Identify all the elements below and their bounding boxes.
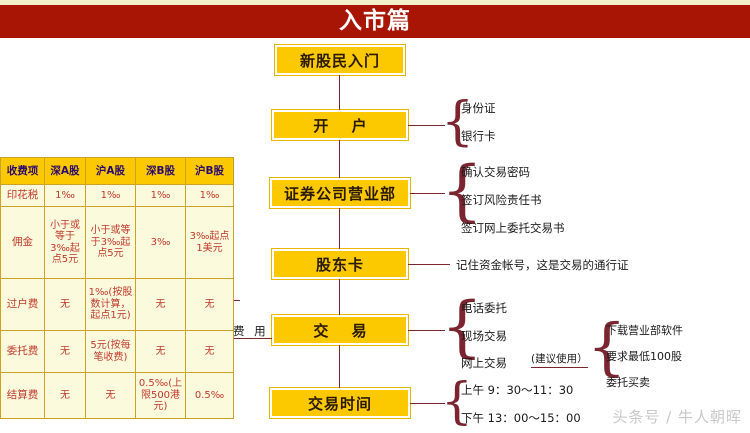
table-header-cell-0: 收费项 bbox=[1, 158, 45, 185]
table-row: 佣金 小于或等于3‰起点5元 小于或等于3‰起点5元 3‰ 3‰起点1美元 bbox=[1, 207, 234, 279]
connector-tradingtime-branchline bbox=[410, 403, 445, 404]
connector-trade-to-time bbox=[339, 345, 340, 388]
anno-shareholder-card: 记住资金帐号，这是交易的通行证 bbox=[456, 257, 629, 273]
table-row: 结算费 无 无 0.5‰(上限500港元) 0.5‰ bbox=[1, 373, 234, 419]
table-header-cell-2: 沪A股 bbox=[86, 158, 136, 185]
table-header-row: 收费项 深A股 沪A股 深B股 沪B股 bbox=[1, 158, 234, 185]
page-title: 入市篇 bbox=[0, 5, 750, 38]
fee-table: 收费项 深A股 沪A股 深B股 沪B股 印花税 1‰ 1‰ 1‰ 1‰ 佣金 小… bbox=[0, 157, 234, 419]
watermark: 头条号 / 牛人朝晖 bbox=[612, 406, 742, 427]
table-row-name-3: 委托费 bbox=[1, 331, 45, 373]
flow-box-securities-branch[interactable]: 证券公司营业部 bbox=[270, 178, 410, 208]
table-cell-3-1: 5元(按每笔收费) bbox=[86, 331, 136, 373]
table-cell-2-0: 无 bbox=[45, 279, 86, 331]
table-header-cell-3: 深B股 bbox=[136, 158, 186, 185]
connector-entry-to-open bbox=[339, 75, 340, 110]
fee-label: 费 用 bbox=[233, 323, 269, 339]
table-cell-0-2: 1‰ bbox=[136, 185, 186, 207]
anno-securities-0: 确认交易密码 bbox=[461, 164, 530, 180]
table-cell-3-0: 无 bbox=[45, 331, 86, 373]
anno-securities-2: 签订网上委托交易书 bbox=[461, 220, 565, 236]
table-cell-3-2: 无 bbox=[136, 331, 186, 373]
connector-fee-to-trade bbox=[228, 338, 272, 339]
anno-open-account-1: 银行卡 bbox=[461, 128, 496, 144]
anno-online-note: (建议使用） bbox=[531, 351, 588, 368]
flow-box-trade[interactable]: 交 易 bbox=[272, 315, 408, 345]
flow-box-entry[interactable]: 新股民入门 bbox=[275, 45, 405, 75]
table-cell-2-1: 1‰(按股数计算，起点1元) bbox=[86, 279, 136, 331]
table-row-name-0: 印花税 bbox=[1, 185, 45, 207]
table-cell-4-3: 0.5‰ bbox=[186, 373, 234, 419]
table-cell-2-2: 无 bbox=[136, 279, 186, 331]
anno-securities-1: 签订风险责任书 bbox=[461, 192, 542, 208]
table-header-cell-4: 沪B股 bbox=[186, 158, 234, 185]
table-row-name-4: 结算费 bbox=[1, 373, 45, 419]
connector-card-to-trade bbox=[339, 279, 340, 315]
table-cell-0-3: 1‰ bbox=[186, 185, 234, 207]
anno-online-sub-0: 下载营业部软件 bbox=[606, 322, 683, 338]
flow-box-trading-time[interactable]: 交易时间 bbox=[270, 388, 410, 418]
table-cell-1-1: 小于或等于3‰起点5元 bbox=[86, 207, 136, 279]
anno-trade-method-1: 现场交易 bbox=[461, 328, 507, 344]
header-banner: 入市篇 bbox=[0, 5, 750, 38]
table-cell-1-3: 3‰起点1美元 bbox=[186, 207, 234, 279]
table-row-name-1: 佣金 bbox=[1, 207, 45, 279]
table-row: 过户费 无 1‰(按股数计算，起点1元) 无 无 bbox=[1, 279, 234, 331]
connector-open-branchline bbox=[408, 125, 445, 126]
anno-trading-hours-1: 下午 13：00～15：00 bbox=[461, 410, 581, 426]
table-cell-4-2: 0.5‰(上限500港元) bbox=[136, 373, 186, 419]
table-row-name-2: 过户费 bbox=[1, 279, 45, 331]
anno-trade-method-0: 电话委托 bbox=[461, 300, 507, 316]
flow-box-shareholder-card[interactable]: 股东卡 bbox=[272, 249, 408, 279]
table-cell-3-3: 无 bbox=[186, 331, 234, 373]
connector-open-to-branch bbox=[339, 140, 340, 178]
table-cell-1-0: 小于或等于3‰起点5元 bbox=[45, 207, 86, 279]
table-cell-2-3: 无 bbox=[186, 279, 234, 331]
table-cell-1-2: 3‰ bbox=[136, 207, 186, 279]
table-row: 委托费 无 5元(按每笔收费) 无 无 bbox=[1, 331, 234, 373]
anno-online-sub-2: 委托买卖 bbox=[606, 374, 650, 390]
table-cell-0-0: 1‰ bbox=[45, 185, 86, 207]
table-cell-4-0: 无 bbox=[45, 373, 86, 419]
anno-open-account-0: 身份证 bbox=[461, 100, 496, 116]
table-cell-0-1: 1‰ bbox=[86, 185, 136, 207]
poster-canvas: 入市篇 新股民入门 开 户 证券公司营业部 股东卡 交 易 交易时间 费 用 {… bbox=[0, 0, 750, 433]
connector-branch-to-card bbox=[339, 208, 340, 249]
flow-box-open-account[interactable]: 开 户 bbox=[272, 110, 408, 140]
connector-card-branchline bbox=[408, 264, 450, 265]
connector-securities-branchline bbox=[410, 193, 445, 194]
anno-online-sub-1: 要求最低100股 bbox=[606, 348, 682, 364]
table-cell-4-1: 无 bbox=[86, 373, 136, 419]
connector-trade-branchline bbox=[408, 330, 445, 331]
anno-trading-hours-0: 上午 9：30～11：30 bbox=[461, 382, 573, 398]
anno-trade-method-2: 网上交易 bbox=[461, 355, 507, 371]
table-header-cell-1: 深A股 bbox=[45, 158, 86, 185]
table-row: 印花税 1‰ 1‰ 1‰ 1‰ bbox=[1, 185, 234, 207]
